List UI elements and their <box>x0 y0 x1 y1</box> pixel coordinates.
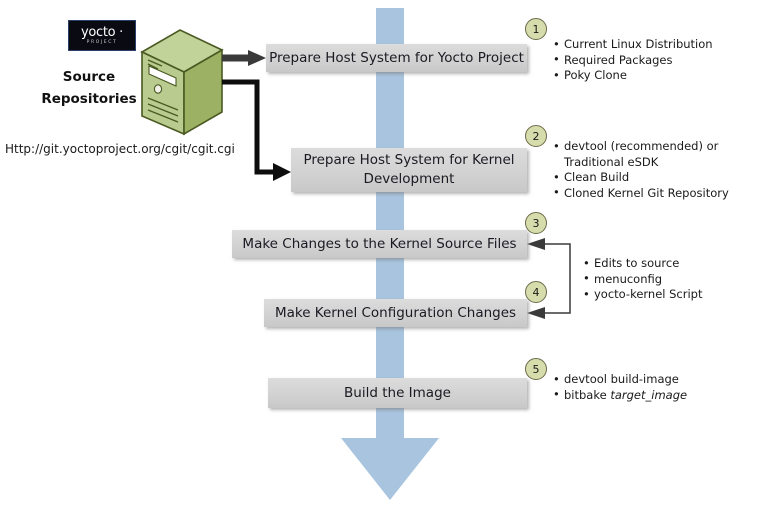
process-box-2[interactable]: Prepare Host System for Kernel Developme… <box>291 148 527 192</box>
repository-url: Http://git.yoctoproject.org/cgit/cgit.cg… <box>5 142 235 156</box>
flow-arrow-shaft <box>376 8 404 440</box>
step-badge-2: 2 <box>525 125 547 147</box>
step-badge-5: 5 <box>525 358 547 380</box>
bullet-item: yocto-kernel Script <box>583 287 703 303</box>
bitbake-prefix: bitbake <box>564 388 610 402</box>
process-box-4[interactable]: Make Kernel Configuration Changes <box>264 299 527 327</box>
bullet-item: bitbake target_image <box>553 388 687 404</box>
process-box-1[interactable]: Prepare Host System for Yocto Project <box>266 44 527 72</box>
bitbake-target-image: target_image <box>610 388 687 402</box>
step-2-bullets: devtool (recommended) or Traditional eSD… <box>553 139 729 201</box>
step-badge-4: 4 <box>525 281 547 303</box>
bullet-item: menuconfig <box>583 272 703 288</box>
bullet-item: Required Packages <box>553 53 713 69</box>
bullet-item: devtool build-image <box>553 372 687 388</box>
bullet-item: Edits to source <box>583 256 703 272</box>
bullet-item: devtool (recommended) or <box>553 139 729 155</box>
bullet-item-continuation: Traditional eSDK <box>553 155 729 171</box>
bullet-item: Current Linux Distribution <box>553 37 713 53</box>
process-box-3[interactable]: Make Changes to the Kernel Source Files <box>232 230 527 258</box>
diagram-canvas: yocto · PROJECT Source Repositories Http… <box>0 0 769 517</box>
bullet-item: Clean Build <box>553 170 729 186</box>
step-1-bullets: Current Linux Distribution Required Pack… <box>553 37 713 84</box>
server-tower-icon <box>136 28 228 136</box>
yocto-project-logo: yocto · PROJECT <box>68 20 136 51</box>
logo-wordmark: yocto · <box>81 26 123 39</box>
process-box-5[interactable]: Build the Image <box>268 378 527 408</box>
flow-arrow-head <box>341 438 439 500</box>
source-repositories-label: Source Repositories <box>33 66 145 110</box>
logo-subtitle: PROJECT <box>87 40 118 46</box>
bullet-item: Poky Clone <box>553 68 713 84</box>
steps-3-and-4-bullets: Edits to source menuconfig yocto-kernel … <box>583 256 703 303</box>
step-5-bullets: devtool build-image bitbake target_image <box>553 372 687 403</box>
step-badge-3: 3 <box>525 212 547 234</box>
bullet-item: Cloned Kernel Git Repository <box>553 186 729 202</box>
step-badge-1: 1 <box>525 18 547 40</box>
